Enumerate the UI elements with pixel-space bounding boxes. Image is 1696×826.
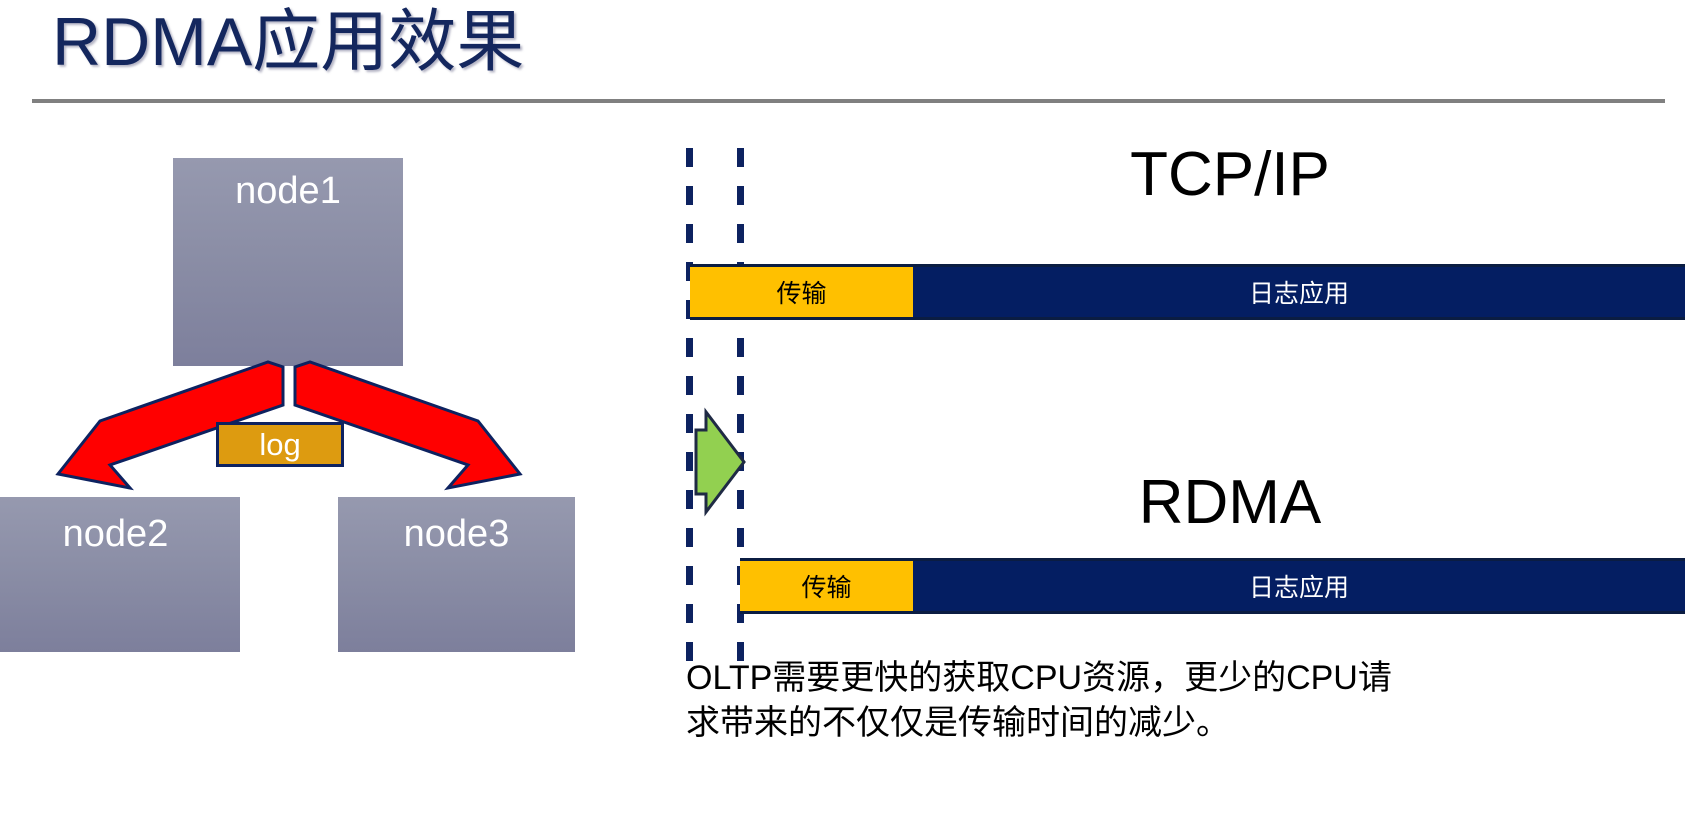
node-box-node3: node3 (338, 497, 575, 652)
node-box-node1: node1 (173, 158, 403, 366)
node-label-node3: node3 (404, 513, 510, 555)
caption-line-1: OLTP需要更快的获取CPU资源，更少的CPU请 (686, 656, 1586, 701)
timeline-bar-rdma: 传输 日志应用 (740, 558, 1685, 614)
timeline-bar-tcpip: 传输 日志应用 (690, 264, 1685, 320)
segment-log-application-tcpip: 日志应用 (913, 267, 1685, 317)
segment-log-application-rdma: 日志应用 (913, 561, 1685, 611)
green-right-arrow-icon (692, 400, 748, 524)
node-box-node2: node2 (0, 497, 240, 652)
node-label-node2: node2 (63, 513, 169, 555)
protocol-label-tcpip: TCP/IP (1040, 140, 1420, 210)
title-divider (32, 99, 1665, 103)
caption-text: OLTP需要更快的获取CPU资源，更少的CPU请 求带来的不仅仅是传输时间的减少… (686, 656, 1586, 746)
caption-line-2: 求带来的不仅仅是传输时间的减少。 (686, 701, 1586, 746)
log-box: log (216, 422, 344, 467)
node-label-node1: node1 (235, 170, 341, 212)
log-box-label: log (259, 427, 300, 462)
protocol-label-rdma: RDMA (1040, 468, 1420, 538)
page-title: RDMA应用效果 (52, 2, 524, 82)
slide-root: RDMA应用效果 node1 node2 node3 log TCP/IP 传输… (0, 0, 1696, 826)
segment-transport-tcpip: 传输 (690, 267, 913, 317)
segment-transport-rdma: 传输 (740, 561, 913, 611)
